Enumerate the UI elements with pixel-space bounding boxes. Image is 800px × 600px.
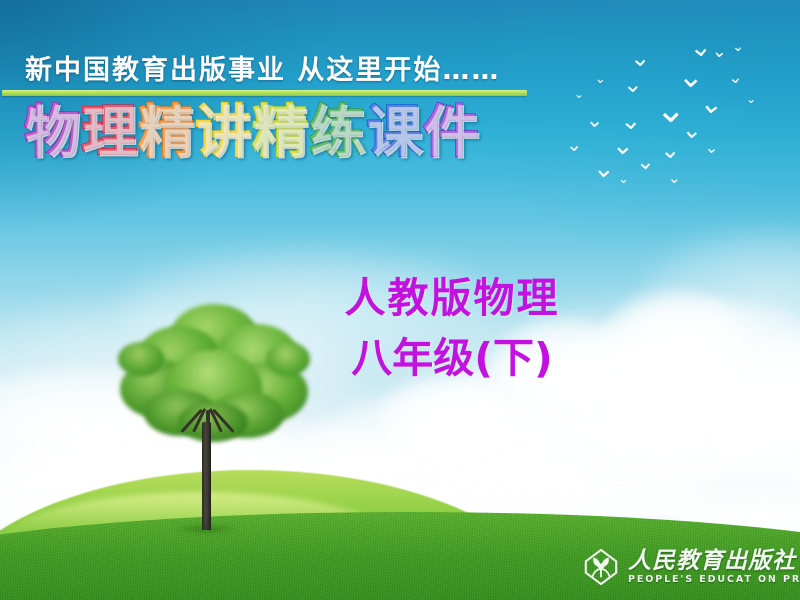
title-char-0: 物 — [24, 100, 81, 166]
title-char-4: 精 — [252, 100, 309, 166]
plant-emblem-icon — [582, 548, 620, 586]
title-char-5: 练 — [309, 100, 366, 166]
subtitle-line-1: 人教版物理 — [322, 268, 582, 328]
title-char-2: 精 — [138, 100, 195, 166]
tree-icon — [118, 302, 308, 532]
presentation-slide: ⌄ ⌄ ⌄ ⌄ ⌄ ⌄ ⌄ ⌄ ⌄ ⌄ ⌄ ⌄ ⌄ ⌄ ⌄ ⌄ ⌄ ⌄ ⌄ ⌄ … — [0, 0, 800, 600]
logo-chinese-name: 人民教育出版社 — [628, 548, 800, 573]
title-char-7: 件 — [423, 100, 480, 166]
publisher-logo: 人民教育出版社 PEOPLE'S EDUCAT ON PRESS — [582, 543, 794, 591]
page-title: 物理精讲精练课件 — [24, 100, 480, 166]
header-tagline: 新中国教育出版事业 从这里开始…… — [25, 48, 500, 87]
subtitle-line-2: 八年级(下) — [322, 328, 582, 388]
title-char-6: 课 — [366, 100, 423, 166]
title-char-1: 理 — [81, 100, 138, 166]
title-char-3: 讲 — [195, 100, 252, 166]
flying-birds-icon: ⌄ ⌄ ⌄ ⌄ ⌄ ⌄ ⌄ ⌄ ⌄ ⌄ ⌄ ⌄ ⌄ ⌄ ⌄ ⌄ ⌄ ⌄ ⌄ ⌄ … — [560, 18, 800, 208]
logo-english-name: PEOPLE'S EDUCAT ON PRESS — [628, 573, 800, 586]
green-divider-rule — [2, 90, 527, 96]
subtitle-block: 人教版物理 八年级(下) — [322, 268, 582, 388]
